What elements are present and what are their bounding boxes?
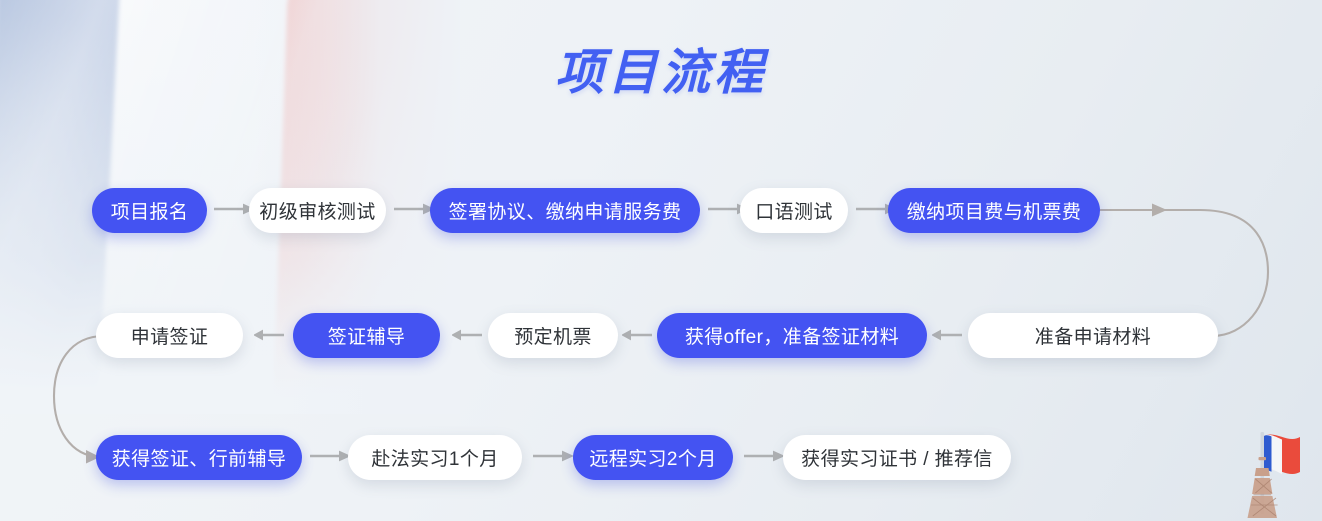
arrow-right-icon [533, 449, 577, 463]
step-row3-1[interactable]: 获得签证、行前辅导 [96, 435, 302, 480]
step-row1-3[interactable]: 签署协议、缴纳申请服务费 [430, 188, 700, 233]
step-label: 获得实习证书 / 推荐信 [801, 444, 993, 471]
step-label: 口语测试 [755, 197, 833, 224]
flag-blue-field [1264, 435, 1272, 472]
step-label: 签证辅导 [328, 322, 406, 349]
step-row1-5[interactable]: 缴纳项目费与机票费 [888, 188, 1100, 233]
arrow-left-icon [932, 328, 962, 342]
step-label: 远程实习2个月 [589, 444, 716, 471]
step-row1-1[interactable]: 项目报名 [92, 188, 207, 233]
step-row3-2[interactable]: 赴法实习1个月 [348, 435, 522, 480]
arrow-row3-2-3 [533, 449, 577, 463]
arrow-left-icon [622, 328, 652, 342]
step-row1-2[interactable]: 初级审核测试 [249, 188, 386, 233]
arrow-row2-3-2 [452, 328, 482, 342]
step-label: 获得offer，准备签证材料 [685, 322, 899, 349]
step-label: 预定机票 [514, 322, 592, 349]
arrow-left-icon [452, 328, 482, 342]
step-row2-2[interactable]: 签证辅导 [293, 313, 440, 358]
eiffel-tower-flag-icon [1236, 424, 1320, 518]
step-row3-4[interactable]: 获得实习证书 / 推荐信 [783, 435, 1011, 480]
curved-connector-row2-to-row3 [54, 336, 104, 457]
arrow-right-icon [744, 449, 788, 463]
step-row2-5[interactable]: 准备申请材料 [968, 313, 1218, 358]
step-label: 获得签证、行前辅导 [112, 444, 287, 471]
step-row2-4[interactable]: 获得offer，准备签证材料 [657, 313, 927, 358]
slide-canvas: 项目流程 项目报名 初级审核测试 签署协议、缴纳申请服务费 [0, 0, 1322, 521]
step-label: 准备申请材料 [1035, 322, 1151, 349]
step-label: 缴纳项目费与机票费 [907, 197, 1082, 224]
arrow-left-icon [254, 328, 284, 342]
step-row2-1[interactable]: 申请签证 [96, 313, 243, 358]
arrow-row2-5-4 [932, 328, 962, 342]
arrow-row2-4-3 [622, 328, 652, 342]
step-label: 申请签证 [131, 322, 209, 349]
arrow-row2-2-1 [254, 328, 284, 342]
step-row2-3[interactable]: 预定机票 [488, 313, 618, 358]
page-title: 项目流程 [0, 49, 1322, 98]
step-label: 项目报名 [111, 197, 189, 224]
arrow-row3-3-4 [744, 449, 788, 463]
step-label: 签署协议、缴纳申请服务费 [449, 197, 682, 224]
step-label: 赴法实习1个月 [371, 444, 498, 471]
connector-arrowhead-right [1152, 204, 1167, 217]
step-label: 初级审核测试 [259, 197, 375, 224]
step-row3-3[interactable]: 远程实习2个月 [573, 435, 733, 480]
step-row1-4[interactable]: 口语测试 [740, 188, 848, 233]
